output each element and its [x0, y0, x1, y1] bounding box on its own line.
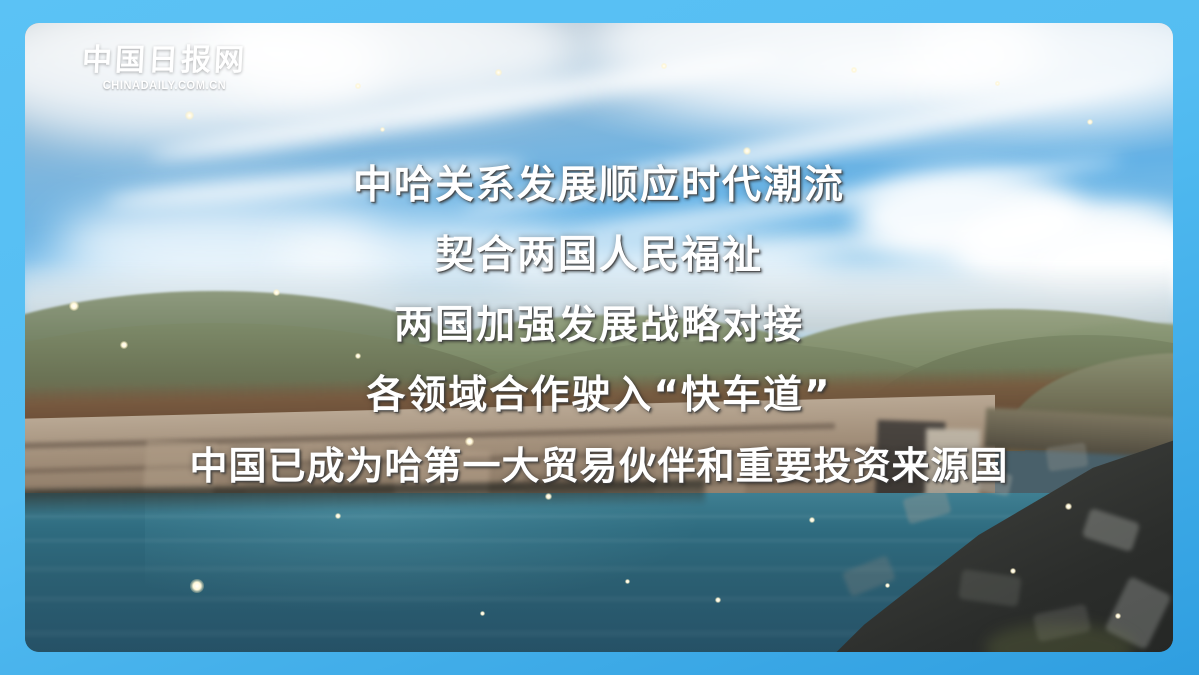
watermark-brand-url: CHINADAILY.COM.CN [81, 80, 249, 92]
rock-scree-right [785, 423, 1173, 652]
watermark-brand-cn: 中国日报网 [76, 45, 253, 77]
video-player-frame: 中国日报网 CHINADAILY.COM.CN 中哈关系发展顺应时代潮流 契合两… [0, 0, 1199, 675]
chinadaily-watermark: 中国日报网 CHINADAILY.COM.CN [77, 45, 252, 92]
video-stage[interactable]: 中国日报网 CHINADAILY.COM.CN 中哈关系发展顺应时代潮流 契合两… [25, 23, 1173, 652]
